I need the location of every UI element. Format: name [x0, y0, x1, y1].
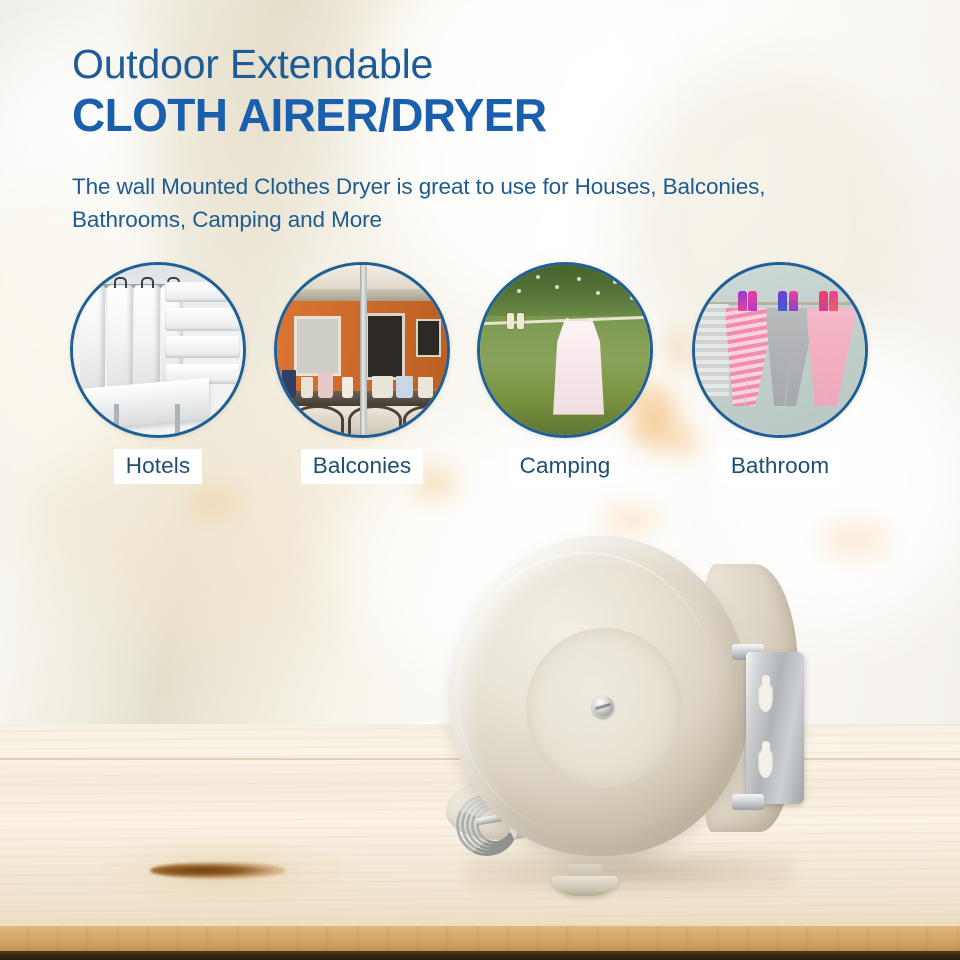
use-case-image-balconies — [274, 262, 450, 438]
clothesline-grass-scene — [480, 265, 650, 435]
hotel-linens-scene — [73, 265, 243, 435]
use-case-bathroom[interactable]: Bathroom — [690, 262, 870, 484]
product-image-retractable-clothesline-reel[interactable] — [440, 528, 860, 928]
product-marketing-banner: Outdoor Extendable CLOTH AIRER/DRYER The… — [0, 0, 960, 960]
reel-foot — [552, 876, 618, 896]
table-under-shadow — [0, 951, 960, 960]
baby-clothes-scene — [695, 265, 865, 435]
bracket-keyhole-icon — [758, 748, 773, 778]
headline-block: Outdoor Extendable CLOTH AIRER/DRYER — [72, 44, 872, 139]
center-screw-icon — [592, 696, 614, 718]
use-case-hotels[interactable]: Hotels — [68, 262, 248, 484]
bracket-bottom-lip — [732, 794, 764, 810]
use-case-image-bathroom — [692, 262, 868, 438]
use-case-gallery: Hotels — [0, 262, 960, 502]
bracket-plate — [746, 652, 804, 804]
use-case-balconies[interactable]: Balconies — [272, 262, 452, 484]
use-case-image-hotels — [70, 262, 246, 438]
edge-grain-texture — [0, 926, 960, 953]
use-case-label-bathroom: Bathroom — [719, 449, 841, 484]
use-case-image-camping — [477, 262, 653, 438]
use-case-label-hotels: Hotels — [114, 449, 202, 484]
bracket-keyhole-icon — [758, 682, 773, 712]
balcony-facade-scene — [277, 265, 447, 435]
table-edge-band — [0, 926, 960, 953]
use-case-camping[interactable]: Camping — [475, 262, 655, 484]
use-case-label-camping: Camping — [508, 449, 623, 484]
headline-eyebrow: Outdoor Extendable — [72, 44, 872, 85]
headline-title: CLOTH AIRER/DRYER — [72, 91, 872, 139]
use-case-label-balconies: Balconies — [301, 449, 423, 484]
headline-subtitle: The wall Mounted Clothes Dryer is great … — [72, 170, 842, 237]
wall-mount-bracket — [732, 644, 810, 810]
product-drop-shadow — [464, 850, 794, 892]
wood-knot — [150, 862, 286, 879]
